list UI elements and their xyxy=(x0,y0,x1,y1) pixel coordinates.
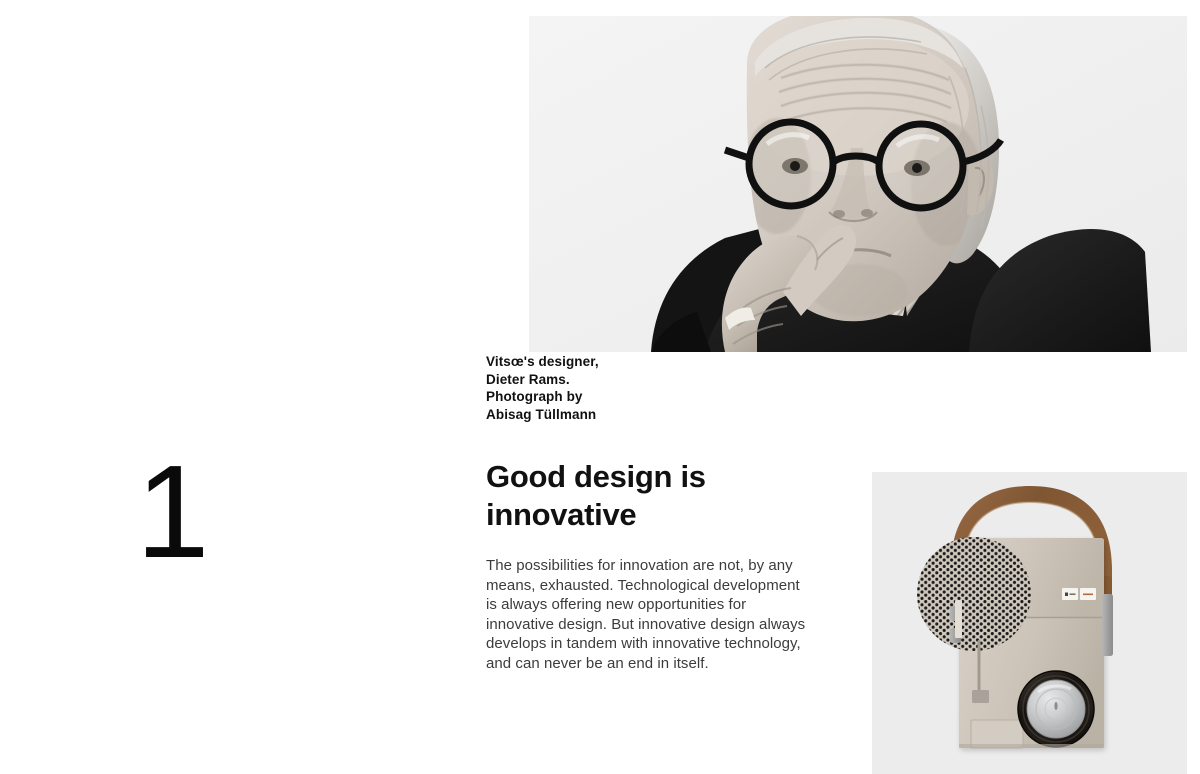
principle-body: The possibilities for innovation are not… xyxy=(486,556,808,673)
caption-line-4: Abisag Tüllmann xyxy=(486,406,786,424)
braun-portable-radio-illustration xyxy=(872,472,1187,774)
photo-caption: Vitsœ's designer, Dieter Rams. Photograp… xyxy=(486,353,786,423)
product-photo xyxy=(872,472,1187,774)
portrait-photo xyxy=(529,16,1187,352)
page-title: Good design is innovative xyxy=(486,458,808,534)
portrait-dieter-rams-illustration xyxy=(529,16,1187,352)
principle-text-block: Good design is innovative The possibilit… xyxy=(486,458,808,673)
caption-line-3: Photograph by xyxy=(486,388,786,406)
caption-line-2: Dieter Rams. xyxy=(486,371,786,389)
caption-line-1: Vitsœ's designer, xyxy=(486,353,786,371)
principle-number: 1 xyxy=(136,446,207,578)
